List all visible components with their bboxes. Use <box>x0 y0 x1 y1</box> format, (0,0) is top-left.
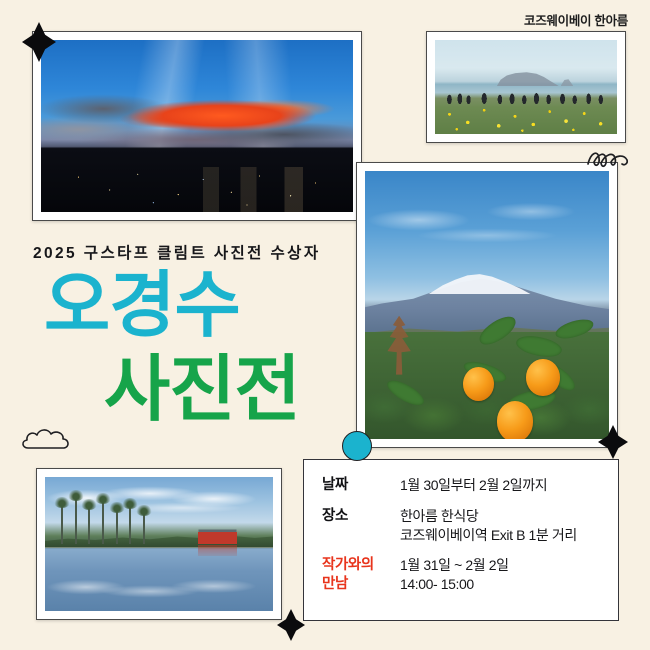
photo-image-tangerine-hallasan <box>365 171 609 439</box>
page-title-name: 오경수 <box>44 272 240 341</box>
squiggle-doodle-icon <box>586 146 630 172</box>
brand-label: 코즈웨이베이 한아름 <box>524 10 628 29</box>
islet-silhouette <box>561 79 574 87</box>
palm-tree <box>88 506 90 544</box>
exhibition-info-panel: 날짜 1월 30일부터 2월 2일까지 장소 한아름 한식당 코즈웨이베이역 E… <box>303 459 619 621</box>
cloud-reflection <box>45 563 273 606</box>
photo-frame-coastal-canola-island <box>426 31 626 143</box>
water-horizon <box>45 547 273 548</box>
palm-tree <box>116 509 118 544</box>
palm-tree <box>61 504 63 544</box>
pavilion-reflection <box>198 545 237 556</box>
info-value-date: 1월 30일부터 2월 2일까지 <box>400 476 547 495</box>
city-lights <box>41 154 353 212</box>
cloud-doodle-icon <box>20 424 74 456</box>
palm-tree <box>75 497 77 544</box>
info-row-date: 날짜 1월 30일부터 2월 2일까지 <box>322 476 604 496</box>
info-label-artist-meeting: 작가와의 만남 <box>322 556 400 595</box>
photo-frame-tangerine-hallasan <box>356 162 618 448</box>
photo-frame-sunset-city-clouds <box>32 31 362 221</box>
page-title-kind: 사진전 <box>104 356 300 425</box>
far-treeline <box>45 531 273 548</box>
palm-tree <box>129 505 131 544</box>
palm-tree <box>143 512 145 544</box>
red-pavilion <box>198 532 237 544</box>
sky-clouds <box>45 480 273 526</box>
info-label-place: 장소 <box>322 507 400 527</box>
info-row-place: 장소 한아름 한식당 코즈웨이베이역 Exit B 1분 거리 <box>322 507 604 545</box>
info-label-date: 날짜 <box>322 476 400 496</box>
photo-image-sunset-city-clouds <box>41 40 353 212</box>
info-value-place: 한아름 한식당 코즈웨이베이역 Exit B 1분 거리 <box>400 507 577 545</box>
tangerine-fruit <box>526 359 560 397</box>
canola-flowers <box>435 100 617 134</box>
mountain-snowcap <box>428 273 530 294</box>
info-row-artist-meeting: 작가와의 만남 1월 31일 ~ 2월 2일 14:00- 15:00 <box>322 556 604 595</box>
info-value-artist-meeting: 1월 31일 ~ 2월 2일 14:00- 15:00 <box>400 556 509 594</box>
photo-image-lake-palms-pavilion <box>45 477 273 611</box>
photo-image-coastal-canola-island <box>435 40 617 134</box>
island-silhouette <box>497 71 559 86</box>
tangerine-fruit <box>497 401 534 439</box>
award-subtitle: 2025 구스타프 클림트 사진전 수상자 <box>33 241 321 263</box>
palm-tree <box>102 500 104 544</box>
sky-clouds <box>365 192 609 262</box>
circle-accent-dot <box>342 431 372 461</box>
photo-frame-lake-palms-pavilion <box>36 468 282 620</box>
